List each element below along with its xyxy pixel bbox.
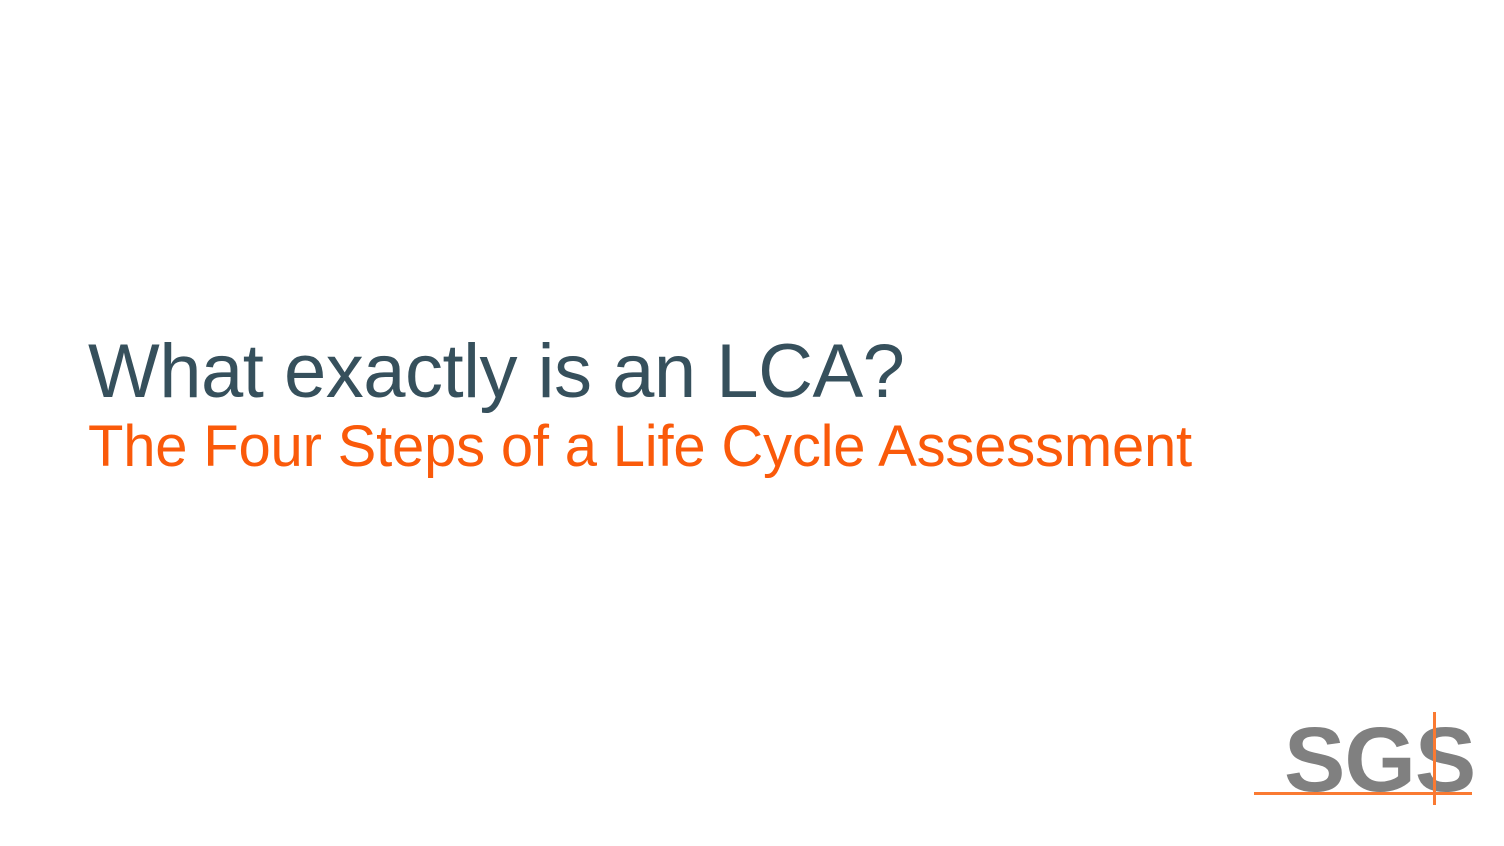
- title-block: What exactly is an LCA? The Four Steps o…: [88, 332, 1348, 480]
- sgs-logo: SGS: [1250, 706, 1480, 814]
- presentation-slide: What exactly is an LCA? The Four Steps o…: [0, 0, 1504, 846]
- logo-vertical-rule-icon: [1433, 712, 1436, 805]
- logo-horizontal-rule-icon: [1254, 792, 1472, 795]
- page-title: What exactly is an LCA?: [88, 332, 1348, 413]
- page-subtitle: The Four Steps of a Life Cycle Assessmen…: [88, 413, 1348, 480]
